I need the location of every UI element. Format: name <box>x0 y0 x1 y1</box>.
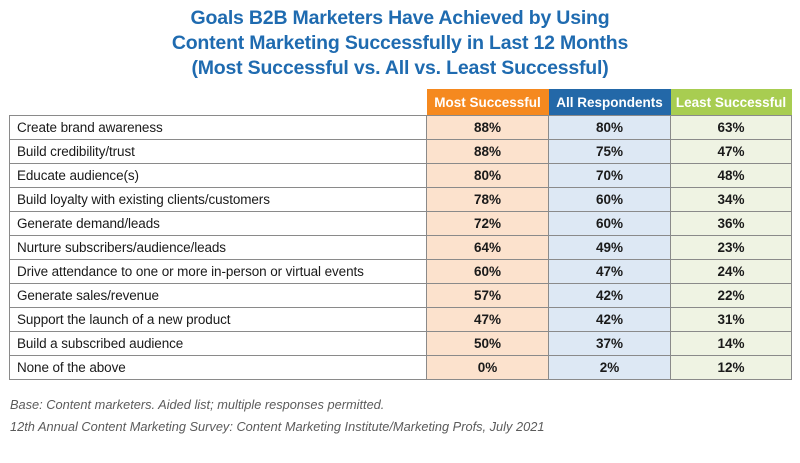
cell-all-respondents: 75% <box>549 140 671 164</box>
cell-all-respondents: 80% <box>549 116 671 140</box>
table-header-row: Most Successful All Respondents Least Su… <box>10 89 792 116</box>
column-header-all-respondents: All Respondents <box>549 89 671 116</box>
column-header-least-successful: Least Successful <box>671 89 792 116</box>
cell-most-successful: 47% <box>427 308 549 332</box>
cell-least-successful: 48% <box>671 164 792 188</box>
cell-least-successful: 14% <box>671 332 792 356</box>
row-label: Create brand awareness <box>10 116 427 140</box>
footnote-base: Base: Content marketers. Aided list; mul… <box>10 394 800 416</box>
row-label: None of the above <box>10 356 427 380</box>
cell-most-successful: 72% <box>427 212 549 236</box>
table-row: Generate demand/leads 72% 60% 36% <box>10 212 792 236</box>
cell-least-successful: 34% <box>671 188 792 212</box>
cell-most-successful: 0% <box>427 356 549 380</box>
title-line-2: Content Marketing Successfully in Last 1… <box>0 31 800 56</box>
cell-most-successful: 64% <box>427 236 549 260</box>
cell-most-successful: 80% <box>427 164 549 188</box>
row-label: Build a subscribed audience <box>10 332 427 356</box>
cell-most-successful: 57% <box>427 284 549 308</box>
table-row: Build loyalty with existing clients/cust… <box>10 188 792 212</box>
cell-all-respondents: 47% <box>549 260 671 284</box>
cell-least-successful: 31% <box>671 308 792 332</box>
table-row: Create brand awareness 88% 80% 63% <box>10 116 792 140</box>
cell-all-respondents: 60% <box>549 212 671 236</box>
cell-least-successful: 47% <box>671 140 792 164</box>
cell-least-successful: 63% <box>671 116 792 140</box>
cell-most-successful: 88% <box>427 116 549 140</box>
table-header: Most Successful All Respondents Least Su… <box>10 89 792 116</box>
footnote-source: 12th Annual Content Marketing Survey: Co… <box>10 416 800 438</box>
goals-table-wrapper: Most Successful All Respondents Least Su… <box>9 89 791 380</box>
infographic-page: Goals B2B Marketers Have Achieved by Usi… <box>0 0 800 463</box>
row-label: Build credibility/trust <box>10 140 427 164</box>
cell-most-successful: 78% <box>427 188 549 212</box>
page-title: Goals B2B Marketers Have Achieved by Usi… <box>0 0 800 81</box>
cell-least-successful: 24% <box>671 260 792 284</box>
table-row: None of the above 0% 2% 12% <box>10 356 792 380</box>
row-label: Support the launch of a new product <box>10 308 427 332</box>
footnotes: Base: Content marketers. Aided list; mul… <box>10 394 800 438</box>
column-header-most-successful: Most Successful <box>427 89 549 116</box>
cell-most-successful: 88% <box>427 140 549 164</box>
row-label: Educate audience(s) <box>10 164 427 188</box>
table-row: Generate sales/revenue 57% 42% 22% <box>10 284 792 308</box>
table-row: Educate audience(s) 80% 70% 48% <box>10 164 792 188</box>
cell-all-respondents: 42% <box>549 284 671 308</box>
cell-all-respondents: 2% <box>549 356 671 380</box>
cell-least-successful: 12% <box>671 356 792 380</box>
cell-most-successful: 50% <box>427 332 549 356</box>
column-header-label <box>10 89 427 116</box>
cell-least-successful: 22% <box>671 284 792 308</box>
row-label: Generate sales/revenue <box>10 284 427 308</box>
table-row: Drive attendance to one or more in-perso… <box>10 260 792 284</box>
row-label: Nurture subscribers/audience/leads <box>10 236 427 260</box>
cell-least-successful: 36% <box>671 212 792 236</box>
cell-most-successful: 60% <box>427 260 549 284</box>
table-body: Create brand awareness 88% 80% 63% Build… <box>10 116 792 380</box>
table-row: Build a subscribed audience 50% 37% 14% <box>10 332 792 356</box>
title-line-3: (Most Successful vs. All vs. Least Succe… <box>0 56 800 81</box>
row-label: Build loyalty with existing clients/cust… <box>10 188 427 212</box>
row-label: Drive attendance to one or more in-perso… <box>10 260 427 284</box>
cell-all-respondents: 42% <box>549 308 671 332</box>
cell-all-respondents: 60% <box>549 188 671 212</box>
table-row: Nurture subscribers/audience/leads 64% 4… <box>10 236 792 260</box>
table-row: Support the launch of a new product 47% … <box>10 308 792 332</box>
cell-all-respondents: 37% <box>549 332 671 356</box>
table-row: Build credibility/trust 88% 75% 47% <box>10 140 792 164</box>
cell-least-successful: 23% <box>671 236 792 260</box>
row-label: Generate demand/leads <box>10 212 427 236</box>
cell-all-respondents: 70% <box>549 164 671 188</box>
goals-table: Most Successful All Respondents Least Su… <box>9 89 792 380</box>
cell-all-respondents: 49% <box>549 236 671 260</box>
title-line-1: Goals B2B Marketers Have Achieved by Usi… <box>0 6 800 31</box>
